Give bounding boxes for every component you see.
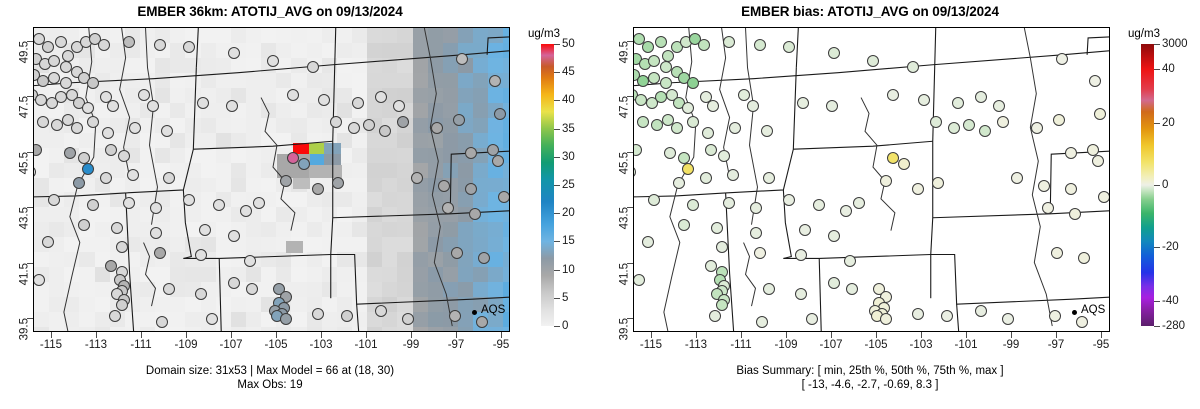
- observation-marker: [700, 172, 712, 184]
- colorbar-tick: [554, 157, 560, 158]
- observation-marker: [907, 61, 919, 73]
- observation-marker: [456, 53, 468, 65]
- observation-marker: [705, 144, 717, 156]
- observation-marker: [750, 202, 762, 214]
- observation-marker: [123, 197, 135, 209]
- observation-marker: [123, 36, 135, 48]
- observation-marker: [761, 125, 773, 137]
- y-tick-label: 39.5: [618, 318, 630, 340]
- x-tick-label: -105: [864, 339, 887, 351]
- observation-marker: [898, 158, 910, 170]
- x-tick-label: -101: [954, 339, 977, 351]
- y-tick-label: 45.5: [618, 152, 630, 174]
- observation-marker: [1089, 75, 1101, 87]
- observation-marker: [87, 116, 99, 128]
- colorbar-tick: [554, 326, 560, 327]
- observation-marker: [763, 172, 775, 184]
- x-tick: [276, 332, 277, 338]
- observation-marker: [87, 199, 99, 211]
- observation-marker: [150, 227, 162, 239]
- panel-model: EMBER 36km: ATOTIJ_AVG on 09/13/2024: [0, 0, 600, 409]
- observation-marker: [738, 89, 750, 101]
- panel-model-plot-area: AQS: [33, 27, 510, 332]
- y-tick-label: 41.5: [18, 263, 30, 285]
- colorbar-tick-label: -280: [1162, 320, 1185, 332]
- observation-marker: [161, 125, 173, 137]
- observation-marker: [42, 41, 54, 53]
- observation-marker: [197, 97, 209, 109]
- colorbar-unit-left: ug/m3: [528, 28, 560, 40]
- x-tick: [456, 332, 457, 338]
- colorbar-tick-label: 10: [562, 264, 575, 276]
- observation-marker: [1038, 180, 1050, 192]
- observation-marker: [492, 155, 504, 167]
- observation-marker: [453, 114, 465, 126]
- colorbar-tick: [1154, 247, 1160, 248]
- x-tick-label: -113: [685, 339, 707, 351]
- observation-marker: [213, 199, 225, 211]
- y-tick-label: 49.5: [18, 41, 30, 63]
- observation-marker: [116, 241, 128, 253]
- observation-marker: [498, 191, 509, 203]
- observation-marker: [60, 61, 72, 73]
- colorbar-tick: [554, 185, 560, 186]
- x-tick: [1101, 332, 1102, 338]
- observation-marker: [42, 236, 54, 248]
- x-tick: [696, 332, 697, 338]
- observation-marker: [163, 283, 175, 295]
- x-tick: [876, 332, 877, 338]
- colorbar-tick-label: -20: [1162, 241, 1179, 253]
- y-axis-left: 39.541.543.545.547.549.5: [0, 27, 33, 332]
- colorbar-tick: [1154, 301, 1160, 302]
- observation-marker: [107, 100, 119, 112]
- colorbar-model: [541, 44, 554, 326]
- observation-marker: [105, 260, 117, 272]
- colorbar-tick: [554, 44, 560, 45]
- observation-marker: [1069, 208, 1081, 220]
- x-tick-label: -95: [493, 339, 510, 351]
- x-tick-label: -105: [264, 339, 287, 351]
- observation-marker: [71, 122, 83, 134]
- x-tick-label: -107: [219, 339, 242, 351]
- observation-marker: [846, 283, 858, 295]
- observation-marker: [98, 39, 110, 51]
- observation-marker: [402, 313, 414, 325]
- x-axis-right: -115-113-111-109-107-105-103-101-99-97-9…: [633, 332, 1110, 358]
- observation-marker: [826, 100, 838, 112]
- observation-marker: [138, 89, 150, 101]
- x-tick-label: -107: [819, 339, 842, 351]
- observation-marker: [716, 241, 728, 253]
- observation-marker: [1076, 316, 1088, 328]
- x-tick: [366, 332, 367, 338]
- observation-marker: [806, 313, 818, 325]
- observation-marker: [1053, 114, 1065, 126]
- colorbar-tick-label: 15: [562, 235, 575, 247]
- x-tick: [141, 332, 142, 338]
- observation-marker: [1002, 313, 1014, 325]
- observation-marker: [375, 91, 387, 103]
- x-tick: [186, 332, 187, 338]
- x-tick-label: -111: [130, 339, 151, 351]
- observation-marker: [195, 249, 207, 261]
- x-tick-label: -115: [640, 339, 662, 351]
- x-tick: [1011, 332, 1012, 338]
- observation-marker: [465, 147, 477, 159]
- aqs-legend-dot-right: [1072, 310, 1077, 315]
- observation-marker: [711, 222, 723, 234]
- observation-marker: [280, 175, 292, 187]
- caption-line-1-right: Bias Summary: [ min, 25th %, 50th %, 75t…: [600, 364, 1140, 378]
- observation-marker: [729, 122, 741, 134]
- x-tick-label: -99: [1003, 339, 1020, 351]
- observation-marker: [34, 274, 45, 286]
- observation-marker: [1051, 247, 1063, 259]
- aqs-legend-dot: [472, 310, 477, 315]
- colorbar-tick-label: 0: [1162, 179, 1168, 191]
- x-tick-label: -103: [909, 339, 932, 351]
- y-tick-label: 47.5: [18, 96, 30, 118]
- observation-marker: [651, 119, 663, 131]
- observation-marker: [912, 308, 924, 320]
- observation-marker: [1094, 108, 1106, 120]
- observation-marker: [253, 197, 265, 209]
- observation-marker: [348, 122, 360, 134]
- observation-marker: [687, 116, 699, 128]
- colorbar-tick: [554, 298, 560, 299]
- observation-marker: [37, 75, 49, 87]
- observation-marker: [195, 288, 207, 300]
- caption-line-2: Max Obs: 19: [0, 378, 540, 392]
- observation-marker: [267, 55, 279, 67]
- x-tick-label: -95: [1093, 339, 1110, 351]
- observation-marker: [332, 177, 344, 189]
- observation-marker: [655, 36, 667, 48]
- observation-marker: [660, 77, 672, 89]
- x-tick: [966, 332, 967, 338]
- observation-marker: [635, 94, 647, 106]
- observation-marker: [1065, 183, 1077, 195]
- observation-marker: [494, 108, 506, 120]
- observation-marker: [723, 197, 735, 209]
- observation-marker: [1098, 191, 1109, 203]
- observation-marker: [62, 50, 74, 62]
- observation-marker: [312, 308, 324, 320]
- colorbar-tick-label: 40: [1162, 63, 1175, 75]
- colorbar-tick-label: 20: [562, 207, 575, 219]
- observation-marker: [887, 89, 899, 101]
- x-tick: [231, 332, 232, 338]
- observation-marker: [147, 100, 159, 112]
- observation-marker: [642, 41, 654, 53]
- colorbar-tick-label: 25: [562, 179, 575, 191]
- colorbar-tick: [1154, 185, 1160, 186]
- observation-marker: [154, 39, 166, 51]
- colorbar-tick: [554, 241, 560, 242]
- observation-marker: [750, 227, 762, 239]
- observation-marker: [1056, 53, 1068, 65]
- observation-marker: [226, 100, 238, 112]
- observation-marker: [307, 61, 319, 73]
- colorbar-tick: [1154, 44, 1160, 45]
- observation-marker: [375, 305, 387, 317]
- observation-marker: [1092, 155, 1104, 167]
- model-map: [34, 28, 509, 331]
- colorbar-tick-label: 20: [1162, 117, 1175, 129]
- y-tick-label: 43.5: [18, 207, 30, 229]
- observation-marker: [698, 39, 710, 51]
- observation-marker: [853, 197, 865, 209]
- x-tick-label: -103: [309, 339, 332, 351]
- observation-marker: [975, 305, 987, 317]
- observation-marker: [664, 147, 676, 159]
- observation-marker: [438, 180, 450, 192]
- x-tick: [831, 332, 832, 338]
- observation-marker: [244, 255, 256, 267]
- x-tick: [501, 332, 502, 338]
- y-tick-label: 47.5: [618, 96, 630, 118]
- colorbar-tick: [554, 129, 560, 130]
- observation-marker: [840, 205, 852, 217]
- observation-marker: [118, 150, 130, 162]
- caption-line-1: Domain size: 31x53 | Max Model = 66 at (…: [0, 364, 540, 378]
- observation-marker: [880, 175, 892, 187]
- observation-marker: [754, 247, 766, 259]
- observation-marker: [352, 97, 364, 109]
- panel-bias-title: EMBER bias: ATOTIJ_AVG on 09/13/2024: [600, 4, 1140, 19]
- observation-marker: [912, 183, 924, 195]
- observation-marker: [78, 219, 90, 231]
- observation-marker: [1065, 147, 1077, 159]
- x-tick-label: -113: [85, 339, 107, 351]
- observation-marker: [393, 100, 405, 112]
- x-tick: [921, 332, 922, 338]
- x-tick: [96, 332, 97, 338]
- y-axis-right: 39.541.543.545.547.549.5: [600, 27, 633, 332]
- y-tick-label: 49.5: [618, 41, 630, 63]
- observation-marker: [637, 75, 649, 87]
- observation-marker: [662, 50, 674, 62]
- colorbar-tick: [1154, 326, 1160, 327]
- observation-marker: [129, 122, 141, 134]
- x-tick-label: -97: [448, 339, 465, 351]
- x-tick: [741, 332, 742, 338]
- x-tick: [411, 332, 412, 338]
- observation-marker: [813, 199, 825, 211]
- observation-marker: [678, 219, 690, 231]
- observation-marker: [287, 152, 299, 164]
- observation-marker: [489, 75, 501, 87]
- x-tick-label: -111: [730, 339, 751, 351]
- observation-marker: [150, 202, 162, 214]
- observation-marker: [465, 183, 477, 195]
- observation-marker: [797, 97, 809, 109]
- observation-marker: [975, 91, 987, 103]
- y-tick-label: 43.5: [618, 207, 630, 229]
- observation-marker: [411, 172, 423, 184]
- observation-marker: [51, 119, 63, 131]
- observation-marker: [795, 249, 807, 261]
- observation-marker: [747, 100, 759, 112]
- x-tick: [651, 332, 652, 338]
- colorbar-tick-label: 45: [562, 66, 575, 78]
- observation-marker: [1011, 172, 1023, 184]
- observation-marker: [705, 260, 717, 272]
- colorbar-tick-label: 5: [562, 292, 568, 304]
- x-tick: [786, 332, 787, 338]
- observation-marker: [154, 247, 166, 259]
- observation-marker: [246, 283, 258, 295]
- panel-bias: EMBER bias: ATOTIJ_AVG on 09/13/2024: [600, 0, 1200, 409]
- observation-marker: [431, 122, 443, 134]
- observation-marker: [451, 247, 463, 259]
- observation-marker: [642, 236, 654, 248]
- colorbar-tick: [554, 72, 560, 73]
- observation-marker: [932, 177, 944, 189]
- observation-marker: [298, 158, 310, 170]
- observation-marker: [716, 299, 728, 311]
- panel-model-caption: Domain size: 31x53 | Max Model = 66 at (…: [0, 364, 540, 392]
- observation-marker: [795, 288, 807, 300]
- observation-marker: [948, 122, 960, 134]
- y-tick-label: 45.5: [18, 152, 30, 174]
- bias-map: [634, 28, 1109, 331]
- observation-marker: [707, 100, 719, 112]
- x-tick-label: -99: [403, 339, 420, 351]
- aqs-legend-label-right: AQS: [1081, 304, 1105, 316]
- x-tick-label: -109: [774, 339, 797, 351]
- observation-marker: [469, 208, 481, 220]
- colorbar-tick: [554, 213, 560, 214]
- x-tick-label: -115: [40, 339, 62, 351]
- observation-marker: [60, 77, 72, 89]
- colorbar-tick-label: 3000: [1162, 38, 1188, 50]
- colorbar-bias: [1141, 44, 1154, 326]
- observation-marker: [287, 89, 299, 101]
- colorbar-unit-right: ug/m3: [1128, 28, 1160, 40]
- observation-marker: [844, 255, 856, 267]
- observation-marker: [763, 283, 775, 295]
- colorbar-tick-label: 30: [562, 151, 575, 163]
- y-tick-label: 39.5: [18, 318, 30, 340]
- observation-marker: [105, 144, 117, 156]
- observation-marker: [687, 77, 699, 89]
- aqs-legend-label: AQS: [481, 304, 505, 316]
- colorbar-tick: [554, 270, 560, 271]
- observation-marker: [100, 172, 112, 184]
- observation-marker: [111, 222, 123, 234]
- figure-canvas: EMBER 36km: ATOTIJ_AVG on 09/13/2024: [0, 0, 1200, 409]
- observation-marker: [116, 299, 128, 311]
- observation-marker: [634, 274, 645, 286]
- y-tick-label: 41.5: [618, 263, 630, 285]
- observation-marker: [163, 172, 175, 184]
- observation-marker: [312, 183, 324, 195]
- x-tick: [1056, 332, 1057, 338]
- observation-marker: [718, 150, 730, 162]
- observation-marker: [1031, 122, 1043, 134]
- colorbar-tick-label: -40: [1162, 295, 1179, 307]
- x-tick-label: -109: [174, 339, 197, 351]
- colorbar-tick-label: 50: [562, 38, 575, 50]
- colorbar-tick-label: 0: [562, 320, 568, 332]
- observation-marker: [206, 313, 218, 325]
- x-tick-label: -97: [1048, 339, 1065, 351]
- observation-marker: [64, 147, 76, 159]
- colorbar-tick: [554, 100, 560, 101]
- observation-marker: [979, 125, 991, 137]
- observation-marker: [35, 94, 47, 106]
- observation-marker: [993, 100, 1005, 112]
- observation-marker: [87, 77, 99, 89]
- observation-marker: [887, 152, 899, 164]
- observation-marker: [379, 125, 391, 137]
- colorbar-tick: [1154, 123, 1160, 124]
- caption-line-2-right: [ -13, -4.6, -2.7, -0.69, 8.3 ]: [600, 378, 1140, 392]
- x-axis-left: -115-113-111-109-107-105-103-101-99-97-9…: [33, 332, 510, 358]
- panel-bias-caption: Bias Summary: [ min, 25th %, 50th %, 75t…: [600, 364, 1140, 392]
- observation-marker: [330, 116, 342, 128]
- x-tick: [321, 332, 322, 338]
- observation-marker: [930, 116, 942, 128]
- observation-marker: [867, 55, 879, 67]
- observation-marker: [723, 36, 735, 48]
- observation-marker: [754, 39, 766, 51]
- observation-marker: [671, 122, 683, 134]
- observation-marker: [127, 169, 139, 181]
- colorbar-tick-label: 35: [562, 123, 575, 135]
- observation-marker: [240, 205, 252, 217]
- x-tick-label: -101: [354, 339, 377, 351]
- colorbar-tick-label: 40: [562, 94, 575, 106]
- observation-marker: [55, 36, 67, 48]
- panel-bias-plot-area: AQS: [633, 27, 1110, 332]
- observation-marker: [476, 316, 488, 328]
- panel-model-title: EMBER 36km: ATOTIJ_AVG on 09/13/2024: [0, 4, 540, 19]
- observation-marker: [687, 199, 699, 211]
- observation-marker: [727, 169, 739, 181]
- observation-marker: [660, 61, 672, 73]
- x-tick: [51, 332, 52, 338]
- observation-marker: [952, 97, 964, 109]
- colorbar-tick: [1154, 69, 1160, 70]
